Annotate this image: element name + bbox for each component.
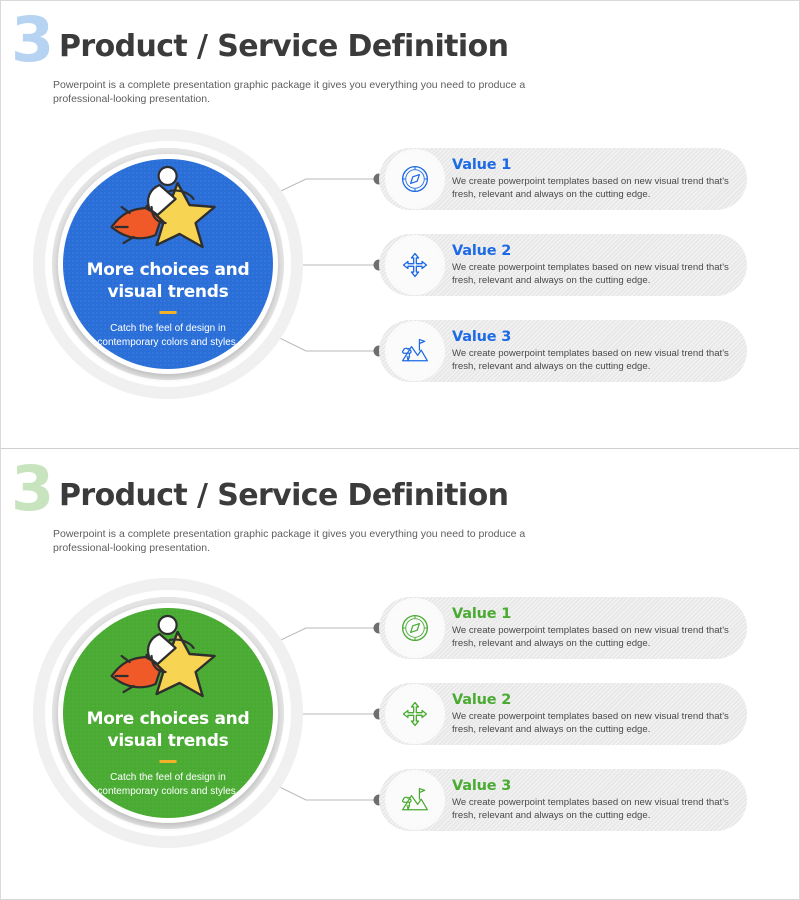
value-card[interactable]: Value 1 We create powerpoint templates b… — [379, 148, 747, 210]
value-card-description: We create powerpoint templates based on … — [452, 176, 737, 201]
value-card-description: We create powerpoint templates based on … — [452, 625, 737, 650]
value-card-description: We create powerpoint templates based on … — [452, 711, 737, 736]
value-card-title: Value 1 — [452, 156, 737, 174]
value-card-description: We create powerpoint templates based on … — [452, 797, 737, 822]
hero-circle: More choices and visual trends Catch the… — [33, 578, 303, 848]
value-card-title: Value 2 — [452, 242, 737, 260]
value-card-description: We create powerpoint templates based on … — [452, 348, 737, 373]
compass-icon — [389, 153, 441, 205]
circle-core: More choices and visual trends Catch the… — [63, 159, 273, 369]
value-card-body: Value 3 We create powerpoint templates b… — [452, 777, 737, 822]
circle-divider-rule — [160, 760, 177, 763]
circle-subtitle: Catch the feel of design in contemporary… — [81, 771, 255, 798]
page-title: Product / Service Definition — [59, 478, 508, 513]
mountain-flag-icon — [389, 774, 441, 826]
value-card-body: Value 2 We create powerpoint templates b… — [452, 691, 737, 736]
circle-title: More choices and visual trends — [73, 259, 263, 303]
slide-divider — [1, 448, 799, 449]
circle-title-line2: visual trends — [108, 282, 229, 302]
hero-circle: More choices and visual trends Catch the… — [33, 129, 303, 399]
page-title: Product / Service Definition — [59, 29, 508, 64]
value-card-title: Value 3 — [452, 328, 737, 346]
value-card[interactable]: Value 2 We create powerpoint templates b… — [379, 683, 747, 745]
slide-number: 3 — [11, 458, 52, 520]
value-card-body: Value 2 We create powerpoint templates b… — [452, 242, 737, 287]
compass-icon — [389, 602, 441, 654]
value-card-body: Value 1 We create powerpoint templates b… — [452, 605, 737, 650]
value-card[interactable]: Value 3 We create powerpoint templates b… — [379, 320, 747, 382]
four-way-arrows-icon — [389, 239, 441, 291]
value-card[interactable]: Value 2 We create powerpoint templates b… — [379, 234, 747, 296]
circle-title-line2: visual trends — [108, 731, 229, 751]
circle-core: More choices and visual trends Catch the… — [63, 608, 273, 818]
value-card[interactable]: Value 1 We create powerpoint templates b… — [379, 597, 747, 659]
person-riding-shooting-star-icon — [106, 614, 236, 700]
mountain-flag-icon — [389, 325, 441, 377]
value-card-body: Value 1 We create powerpoint templates b… — [452, 156, 737, 201]
value-card-description: We create powerpoint templates based on … — [452, 262, 737, 287]
slide-blue: 3 Product / Service Definition Powerpoin… — [1, 1, 799, 448]
four-way-arrows-icon — [389, 688, 441, 740]
circle-title-line1: More choices and — [87, 260, 250, 280]
value-card-title: Value 1 — [452, 605, 737, 623]
slide-deck-page: 3 Product / Service Definition Powerpoin… — [0, 0, 800, 900]
slide-green: 3 Product / Service Definition Powerpoin… — [1, 450, 799, 897]
page-subtitle: Powerpoint is a complete presentation gr… — [53, 527, 553, 555]
value-card-title: Value 3 — [452, 777, 737, 795]
value-card[interactable]: Value 3 We create powerpoint templates b… — [379, 769, 747, 831]
circle-title: More choices and visual trends — [73, 708, 263, 752]
person-riding-shooting-star-icon — [106, 165, 236, 251]
value-card-body: Value 3 We create powerpoint templates b… — [452, 328, 737, 373]
circle-divider-rule — [160, 311, 177, 314]
page-subtitle: Powerpoint is a complete presentation gr… — [53, 78, 553, 106]
circle-title-line1: More choices and — [87, 709, 250, 729]
value-card-title: Value 2 — [452, 691, 737, 709]
slide-number: 3 — [11, 9, 52, 71]
circle-subtitle: Catch the feel of design in contemporary… — [81, 322, 255, 349]
